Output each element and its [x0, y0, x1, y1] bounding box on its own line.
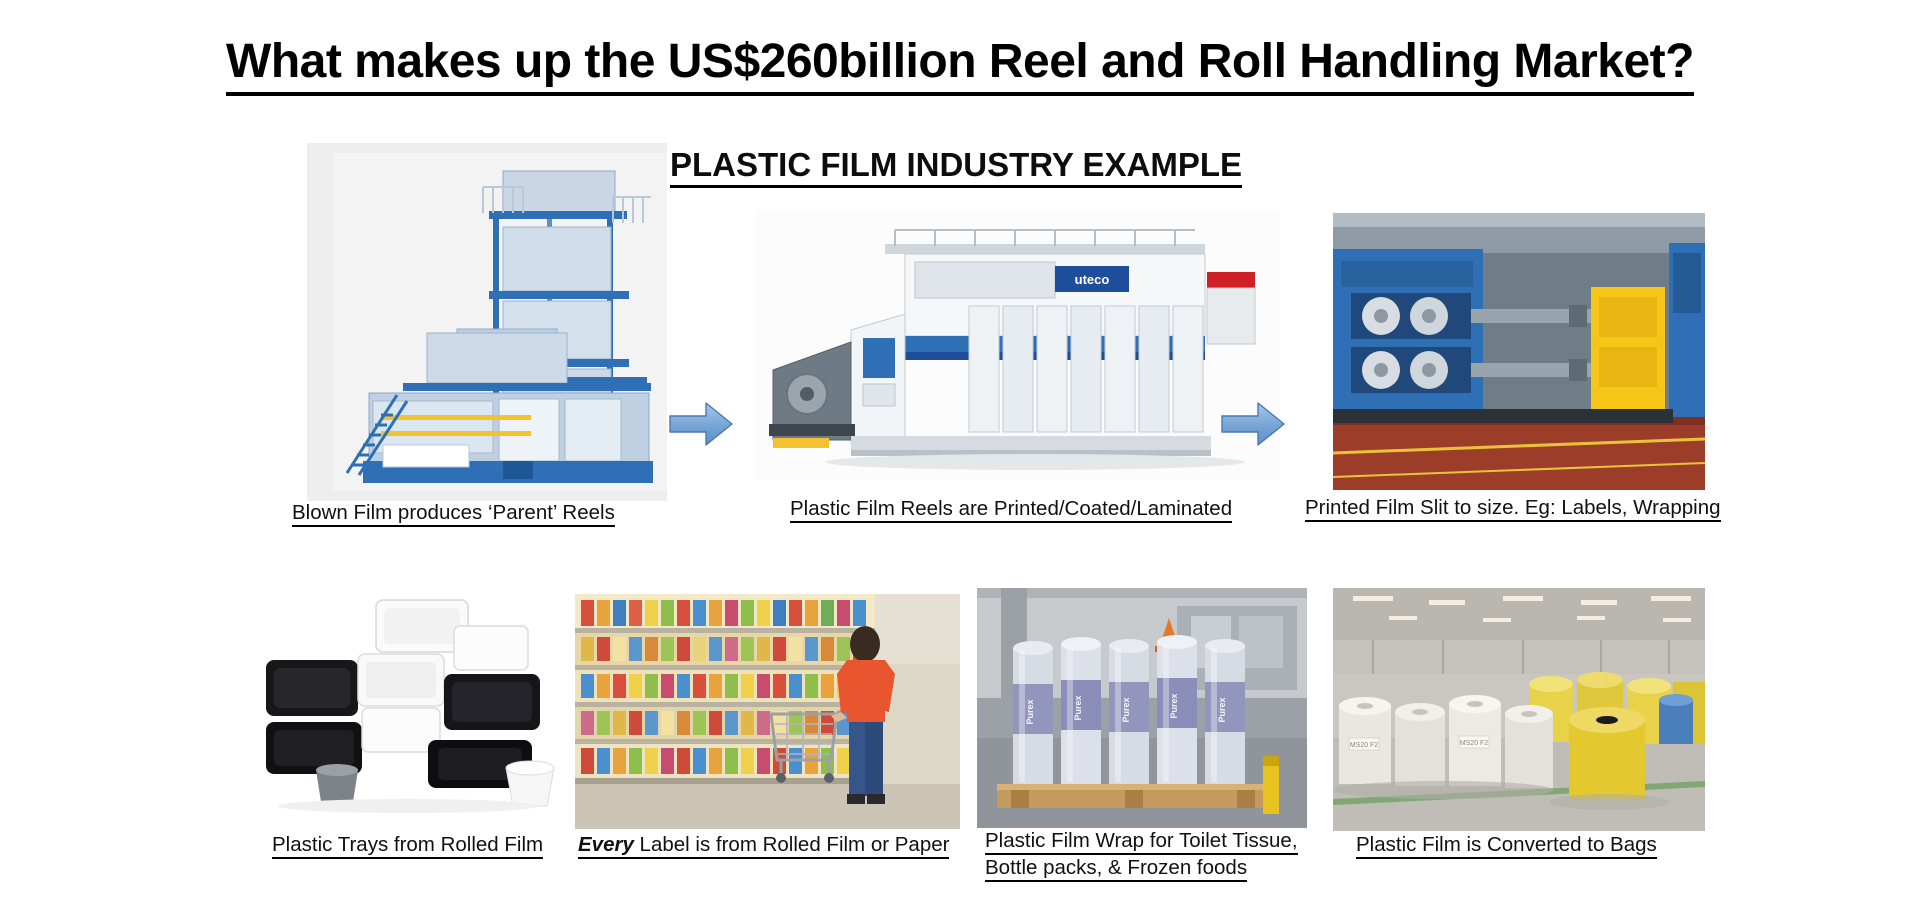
- caption-trays: Plastic Trays from Rolled Film: [272, 832, 543, 859]
- right-arrow-icon: [668, 400, 734, 453]
- blown-film-tower-illustration: [307, 143, 667, 501]
- supermarket-illustration: [575, 594, 960, 829]
- page-title-text: What makes up the US$260billion Reel and…: [226, 34, 1694, 96]
- image-converted-film-rolls-warehouse: MS20 F2 MS20 F2: [1333, 588, 1705, 831]
- presentation-slide: What makes up the US$260billion Reel and…: [0, 0, 1920, 913]
- svg-text:uteco: uteco: [1075, 272, 1110, 287]
- caption-slitter: Printed Film Slit to size. Eg: Labels, W…: [1305, 495, 1721, 522]
- caption-printing-press: Plastic Film Reels are Printed/Coated/La…: [790, 496, 1232, 523]
- caption-supermarket: Every Label is from Rolled Film or Paper: [578, 832, 949, 859]
- caption-emphasis: Every: [578, 833, 634, 856]
- slitter-illustration: [1333, 213, 1705, 490]
- caption-blown-film: Blown Film produces ‘Parent’ Reels: [292, 500, 615, 527]
- image-slitter-rewinder-machine: [1333, 213, 1705, 490]
- svg-text:Purex: Purex: [1217, 697, 1227, 722]
- svg-text:MS20 F2: MS20 F2: [1460, 740, 1489, 747]
- svg-text:Purex: Purex: [1073, 695, 1083, 720]
- image-stretch-wrapped-tissue-rolls-pallet: Purex Purex Purex Purex Purex: [977, 588, 1307, 828]
- caption-rolls-warehouse: Plastic Film is Converted to Bags: [1356, 832, 1657, 859]
- svg-text:MS20 F2: MS20 F2: [1350, 742, 1379, 749]
- svg-text:Purex: Purex: [1121, 697, 1131, 722]
- image-flexographic-printing-press-line: uteco: [755, 210, 1280, 480]
- rolls-warehouse-illustration: MS20 F2 MS20 F2: [1333, 588, 1705, 831]
- plastic-trays-illustration: [258, 582, 563, 820]
- svg-text:Purex: Purex: [1169, 693, 1179, 718]
- film-wrap-illustration: Purex Purex Purex Purex Purex: [977, 588, 1307, 828]
- image-supermarket-aisle-shopper: [575, 594, 960, 829]
- image-black-and-white-plastic-trays: [258, 582, 563, 820]
- image-blown-film-extrusion-tower: [307, 143, 667, 501]
- section-heading: PLASTIC FILM INDUSTRY EXAMPLE: [670, 146, 1242, 188]
- right-arrow-icon: [1220, 400, 1286, 453]
- svg-text:Purex: Purex: [1025, 699, 1035, 724]
- page-title: What makes up the US$260billion Reel and…: [0, 34, 1920, 96]
- section-heading-text: PLASTIC FILM INDUSTRY EXAMPLE: [670, 146, 1242, 188]
- printing-press-illustration: uteco: [755, 210, 1280, 480]
- caption-film-wrap: Plastic Film Wrap for Toilet Tissue, Bot…: [985, 828, 1325, 882]
